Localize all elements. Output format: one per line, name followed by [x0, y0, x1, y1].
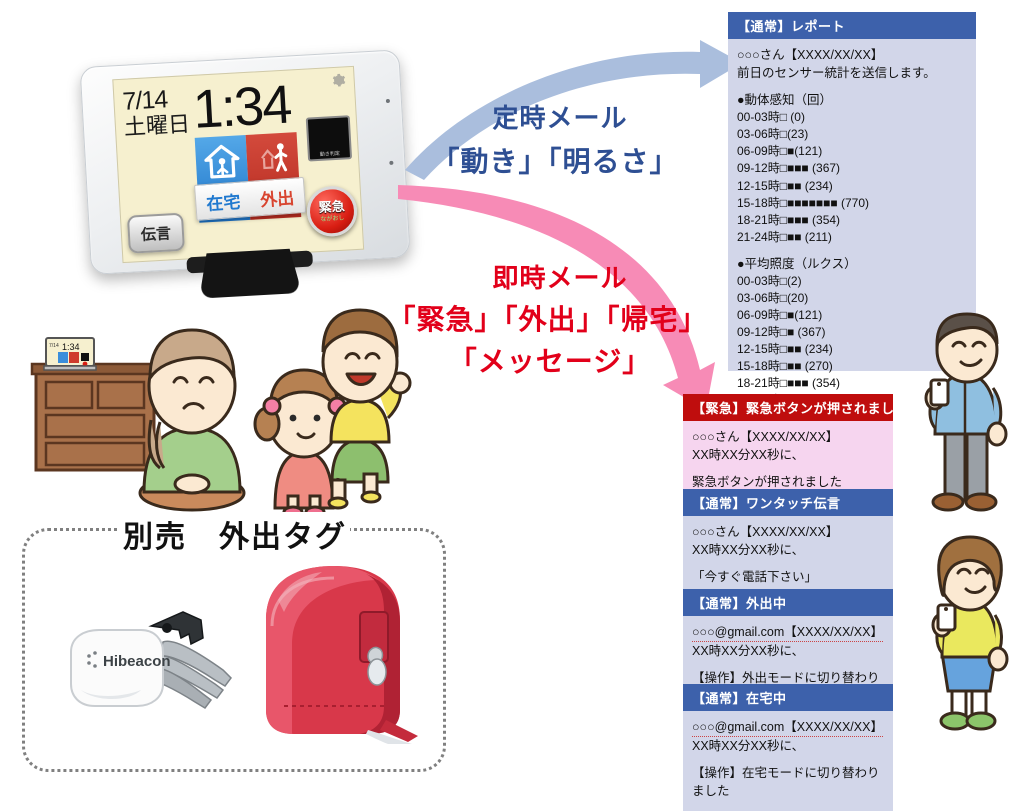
scheduled-mail-items: 「動き」「明るさ」 [390, 140, 720, 180]
athome-line-1: ○○○@gmail.com【XXXX/XX/XX】 [692, 718, 883, 737]
randoseru-backpack-image [248, 560, 428, 745]
emergency-line-2: XX時XX分XX秒に、 [692, 446, 884, 464]
report-data-row: 00-03時□ (0) [737, 109, 967, 126]
emergency-line-1: ○○○さん【XXXX/XX/XX】 [692, 428, 884, 446]
report-data-row: 03-06時□(23) [737, 126, 967, 143]
house-person-icon [203, 143, 241, 179]
grandmother-figure [140, 330, 244, 510]
beacon-fob-icon: Hibeacon [71, 630, 171, 706]
onetouch-line-3: 「今すぐ電話下さい」 [692, 568, 884, 586]
onetouch-mail-panel: 【通常】ワンタッチ伝言 ○○○さん【XXXX/XX/XX】 XX時XX分XX秒に… [683, 489, 893, 596]
spacer [692, 464, 884, 473]
instant-mail-title: 即時メール [430, 258, 690, 295]
athome-panel-header: 【通常】在宅中 [683, 684, 893, 711]
report-data-row: 21-24時□■■ (211) [737, 229, 967, 246]
tablet-stand [199, 249, 302, 299]
tablet-screen: 7/14 土曜日 1:34 [112, 66, 364, 263]
motion-section-title: ●動体感知（回） [737, 91, 967, 109]
emergency-button[interactable]: 緊急 ながおし [306, 185, 359, 238]
outing-line-2: XX時XX分XX秒に、 [692, 642, 884, 660]
emergency-button-sublabel: ながおし [320, 213, 344, 223]
hibeacon-keytag-image: Hibeacon [55, 598, 255, 728]
camera-dot-icon [386, 99, 390, 103]
report-data-row: 09-12時□■■■ (367) [737, 160, 967, 177]
out-mode-label[interactable]: 外出 [249, 178, 305, 216]
svg-text:1:34: 1:34 [62, 342, 80, 352]
report-line-2: 前日のセンサー統計を送信します。 [737, 64, 967, 82]
athome-line-2: XX時XX分XX秒に、 [692, 737, 884, 755]
woman-with-smartphone-figure [910, 545, 1020, 760]
onetouch-line-1: ○○○さん【XXXX/XX/XX】 [692, 523, 884, 541]
clock-date: 7/14 土曜日 [122, 84, 191, 140]
motion-sensor-label: 動き判定 [310, 149, 350, 158]
spacer [692, 660, 884, 669]
walking-person-icon [255, 141, 291, 177]
onetouch-panel-body: ○○○さん【XXXX/XX/XX】 XX時XX分XX秒に、 「今すぐ電話下さい」 [683, 516, 893, 596]
report-data-row: 00-03時□(2) [737, 273, 967, 290]
message-button[interactable]: 伝言 [127, 213, 185, 254]
mini-tablet-icon: 7/14 1:34 [44, 338, 96, 370]
report-panel-header: 【通常】レポート [728, 12, 976, 39]
outing-panel-header: 【通常】外出中 [683, 589, 893, 616]
beacon-brand-label: Hibeacon [103, 653, 171, 670]
athome-mail-panel: 【通常】在宅中 ○○○@gmail.com【XXXX/XX/XX】 XX時XX分… [683, 684, 893, 811]
athome-line-3: 【操作】在宅モードに切り替わりました [692, 764, 884, 800]
spacer [692, 559, 884, 568]
athome-panel-body: ○○○@gmail.com【XXXX/XX/XX】 XX時XX分XX秒に、 【操… [683, 711, 893, 811]
emergency-mail-panel: 【緊急】緊急ボタンが押されました。 ○○○さん【XXXX/XX/XX】 XX時X… [683, 394, 893, 501]
motion-sensor-display: 動き判定 [306, 115, 352, 161]
dresser-icon [32, 364, 158, 470]
lux-section-title: ●平均照度（ルクス） [737, 255, 967, 273]
report-mail-panel: 【通常】レポート ○○○さん【XXXX/XX/XX】 前日のセンサー統計を送信し… [728, 12, 976, 371]
report-data-row: 03-06時□(20) [737, 290, 967, 307]
spacer [737, 82, 967, 91]
onetouch-panel-header: 【通常】ワンタッチ伝言 [683, 489, 893, 516]
home-mode-label[interactable]: 在宅 [195, 182, 251, 220]
spacer [692, 755, 884, 764]
emergency-panel-header: 【緊急】緊急ボタンが押されました。 [683, 394, 893, 421]
instant-mail-items-2: 「メッセージ」 [400, 340, 700, 380]
man-with-smartphone-figure [905, 322, 1020, 537]
optional-tag-title: 別売 外出タグ [120, 512, 350, 556]
report-line-1: ○○○さん【XXXX/XX/XX】 [737, 46, 967, 64]
report-data-row: 18-21時□■■■ (354) [737, 212, 967, 229]
tablet-bezel: 7/14 土曜日 1:34 [80, 49, 411, 275]
living-room-illustration: 7/14 1:34 [32, 300, 422, 515]
svg-text:7/14: 7/14 [49, 343, 59, 349]
scheduled-mail-title: 定時メール [430, 98, 690, 135]
report-data-row: 12-15時□■■ (234) [737, 178, 967, 195]
outing-line-1: ○○○@gmail.com【XXXX/XX/XX】 [692, 623, 883, 642]
tablet-device: 7/14 土曜日 1:34 [80, 49, 415, 307]
report-data-row: 15-18時□■■■■■■■ (770) [737, 195, 967, 212]
clock-time: 1:34 [191, 74, 291, 141]
gear-icon[interactable] [330, 72, 346, 88]
motion-rows: 00-03時□ (0)03-06時□(23)06-09時□■(121)09-12… [737, 109, 967, 245]
instant-mail-items-1: 「緊急」「外出」「帰宅」 [375, 298, 720, 338]
onetouch-line-2: XX時XX分XX秒に、 [692, 541, 884, 559]
date-weekday: 土曜日 [123, 112, 190, 140]
report-data-row: 06-09時□■(121) [737, 143, 967, 160]
